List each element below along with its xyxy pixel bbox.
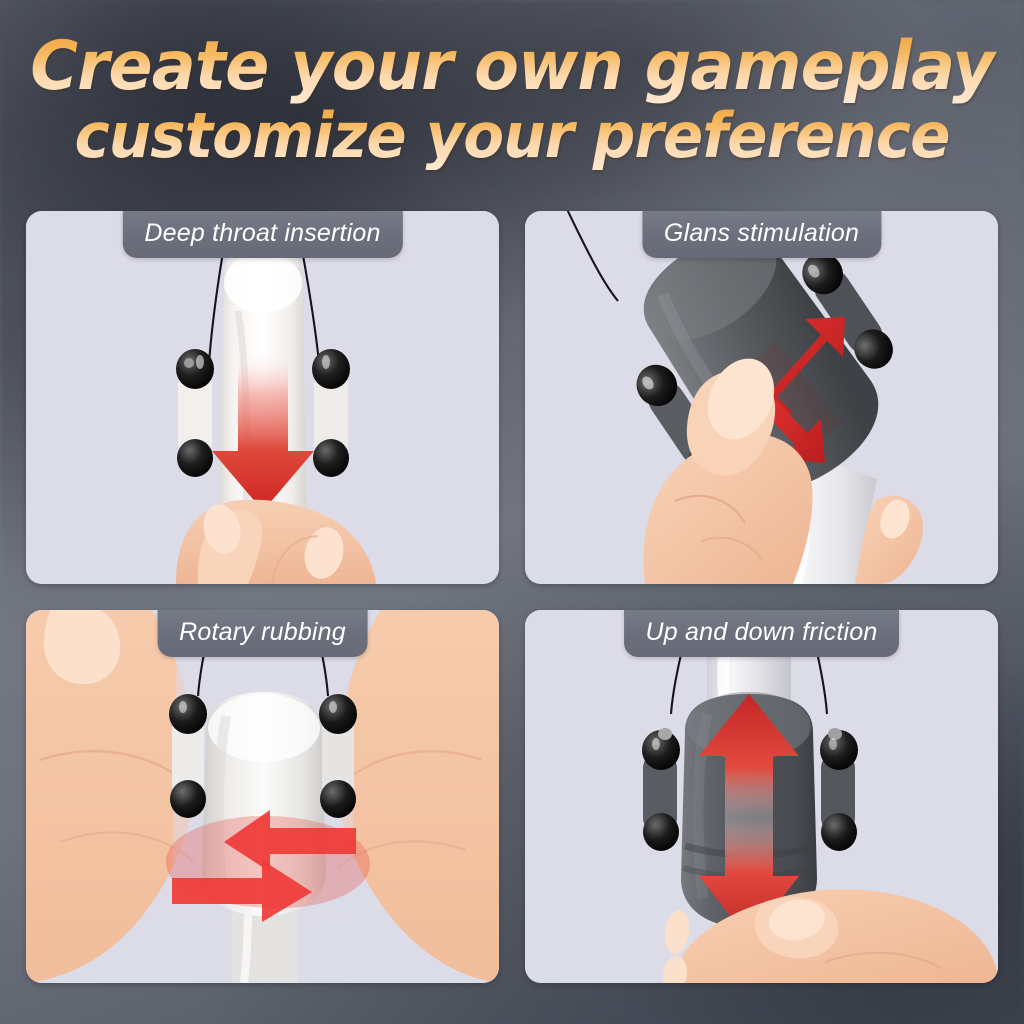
illustration-deep-throat-insertion [26, 211, 499, 584]
panel-label-up-and-down-friction: Up and down friction [624, 610, 900, 657]
panel-deep-throat-insertion[interactable]: Deep throat insertion [26, 211, 499, 584]
clip-right [312, 349, 350, 477]
panel-rotary-rubbing[interactable]: Rotary rubbing [26, 610, 499, 983]
illustration-rotary-rubbing [26, 610, 499, 983]
clip-left [169, 694, 207, 818]
panel-up-and-down-friction[interactable]: Up and down friction [525, 610, 998, 983]
panel-glans-stimulation[interactable]: Glans stimulation [525, 211, 998, 584]
panel-label-deep-throat-insertion: Deep throat insertion [122, 211, 402, 258]
clip-left [176, 349, 214, 477]
feature-grid: Deep throat insertion [26, 211, 998, 999]
illustration-up-and-down-friction [525, 610, 998, 983]
clip-right [820, 728, 858, 851]
panel-label-glans-stimulation: Glans stimulation [642, 211, 881, 258]
clip-left [642, 728, 680, 851]
clip-right [319, 694, 357, 818]
illustration-glans-stimulation [525, 211, 998, 584]
panel-label-rotary-rubbing: Rotary rubbing [157, 610, 368, 657]
promo-banner: Create your own gameplay customize your … [0, 0, 1024, 1024]
